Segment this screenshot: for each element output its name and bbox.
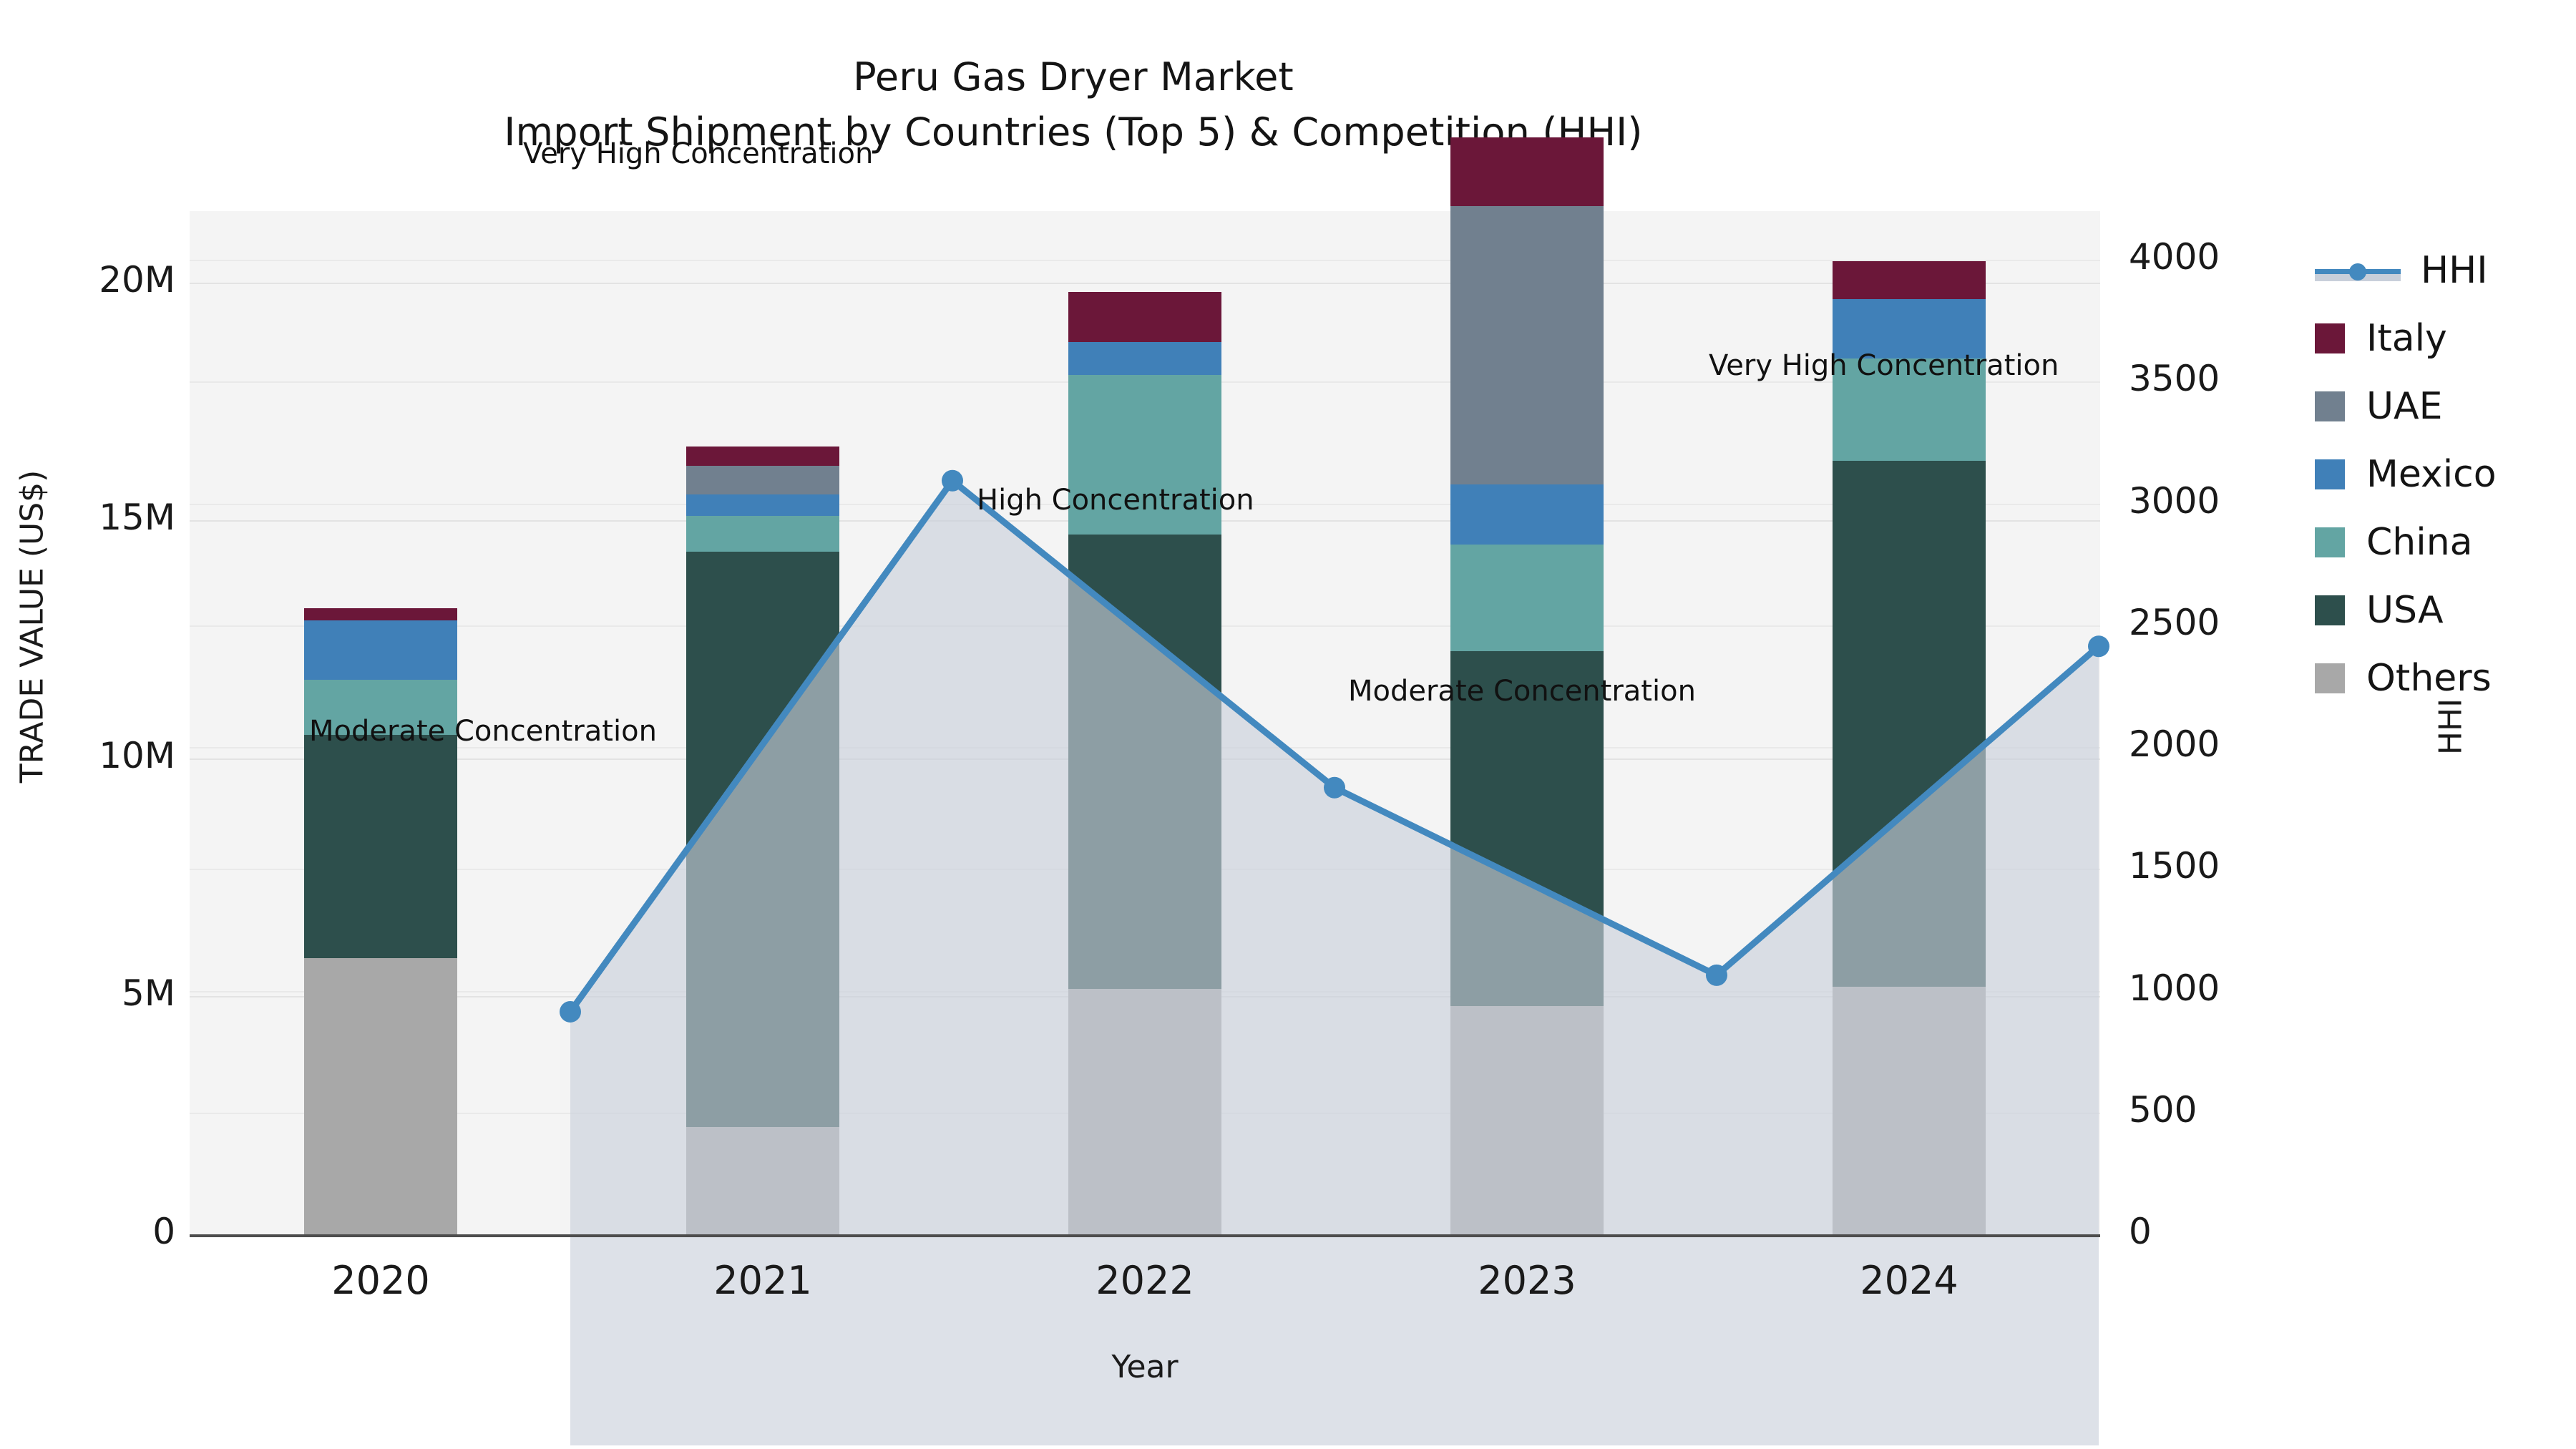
hhi-point-2022[interactable] [1324, 777, 1345, 799]
bar-segment-2023-italy[interactable] [1450, 137, 1604, 206]
annotation-2021: Very High Concentration [523, 137, 873, 170]
y-tick-right-4000: 4000 [2129, 236, 2220, 278]
legend-item-china[interactable]: China [2315, 508, 2572, 576]
x-axis-title: Year [716, 1349, 1574, 1385]
legend-line-key-icon [2315, 255, 2401, 286]
legend-label-hhi: HHI [2421, 252, 2488, 289]
legend-label-others: Others [2366, 660, 2492, 697]
legend-item-italy[interactable]: Italy [2315, 304, 2572, 372]
hhi-point-2020[interactable] [560, 1001, 581, 1023]
hhi-point-2023[interactable] [1706, 965, 1727, 986]
y-tick-left-5M: 5M [11, 972, 175, 1014]
chart-title-block: Peru Gas Dryer Market Import Shipment by… [0, 50, 2147, 160]
x-tick-2022: 2022 [1002, 1258, 1288, 1303]
legend-label-usa: USA [2366, 592, 2444, 629]
legend-swatch-mexico [2315, 459, 2345, 489]
annotation-2024: Very High Concentration [1709, 349, 2059, 382]
chart-legend: HHIItalyUAEMexicoChinaUSAOthers [2315, 236, 2572, 712]
legend-item-mexico[interactable]: Mexico [2315, 440, 2572, 508]
chart-root: Peru Gas Dryer Market Import Shipment by… [0, 0, 2576, 1449]
legend-swatch-others [2315, 663, 2345, 693]
x-tick-2023: 2023 [1384, 1258, 1670, 1303]
legend-label-china: China [2366, 524, 2473, 561]
y-tick-right-2000: 2000 [2129, 723, 2220, 765]
y-tick-right-500: 500 [2129, 1089, 2197, 1131]
legend-label-mexico: Mexico [2366, 456, 2497, 493]
legend-line-marker-icon [2349, 263, 2366, 280]
y-tick-right-1000: 1000 [2129, 967, 2220, 1009]
chart-title: Peru Gas Dryer Market [0, 50, 2147, 105]
x-tick-2020: 2020 [238, 1258, 524, 1303]
annotation-2023: Moderate Concentration [1348, 675, 1696, 708]
y-tick-right-2500: 2500 [2129, 602, 2220, 643]
legend-swatch-usa [2315, 595, 2345, 625]
chart-subtitle: Import Shipment by Countries (Top 5) & C… [0, 105, 2147, 160]
x-tick-2024: 2024 [1766, 1258, 2052, 1303]
hhi-point-2024[interactable] [2088, 635, 2109, 657]
bar-segment-2024-italy[interactable] [1833, 261, 1986, 299]
y-tick-left-0: 0 [11, 1211, 175, 1252]
hhi-point-2021[interactable] [942, 470, 963, 492]
legend-item-usa[interactable]: USA [2315, 576, 2572, 644]
y-tick-right-3500: 3500 [2129, 358, 2220, 399]
annotation-2022: High Concentration [977, 484, 1254, 517]
legend-label-italy: Italy [2366, 320, 2447, 357]
legend-swatch-uae [2315, 391, 2345, 421]
legend-swatch-china [2315, 527, 2345, 557]
legend-item-others[interactable]: Others [2315, 644, 2572, 712]
y-tick-right-1500: 1500 [2129, 845, 2220, 887]
legend-item-hhi[interactable]: HHI [2315, 236, 2572, 304]
legend-swatch-italy [2315, 323, 2345, 353]
legend-label-uae: UAE [2366, 388, 2443, 425]
bar-segment-2022-italy[interactable] [1068, 292, 1221, 342]
y-tick-right-0: 0 [2129, 1211, 2152, 1252]
y-tick-left-20M: 20M [11, 259, 175, 301]
x-axis-line [190, 1234, 2100, 1237]
y-axis-left-title: TRADE VALUE (US$) [14, 412, 51, 841]
legend-item-uae[interactable]: UAE [2315, 372, 2572, 440]
y-tick-right-3000: 3000 [2129, 480, 2220, 522]
bar-segment-2022-mexico[interactable] [1068, 342, 1221, 376]
x-tick-2021: 2021 [620, 1258, 906, 1303]
annotation-2020: Moderate Concentration [309, 715, 657, 748]
